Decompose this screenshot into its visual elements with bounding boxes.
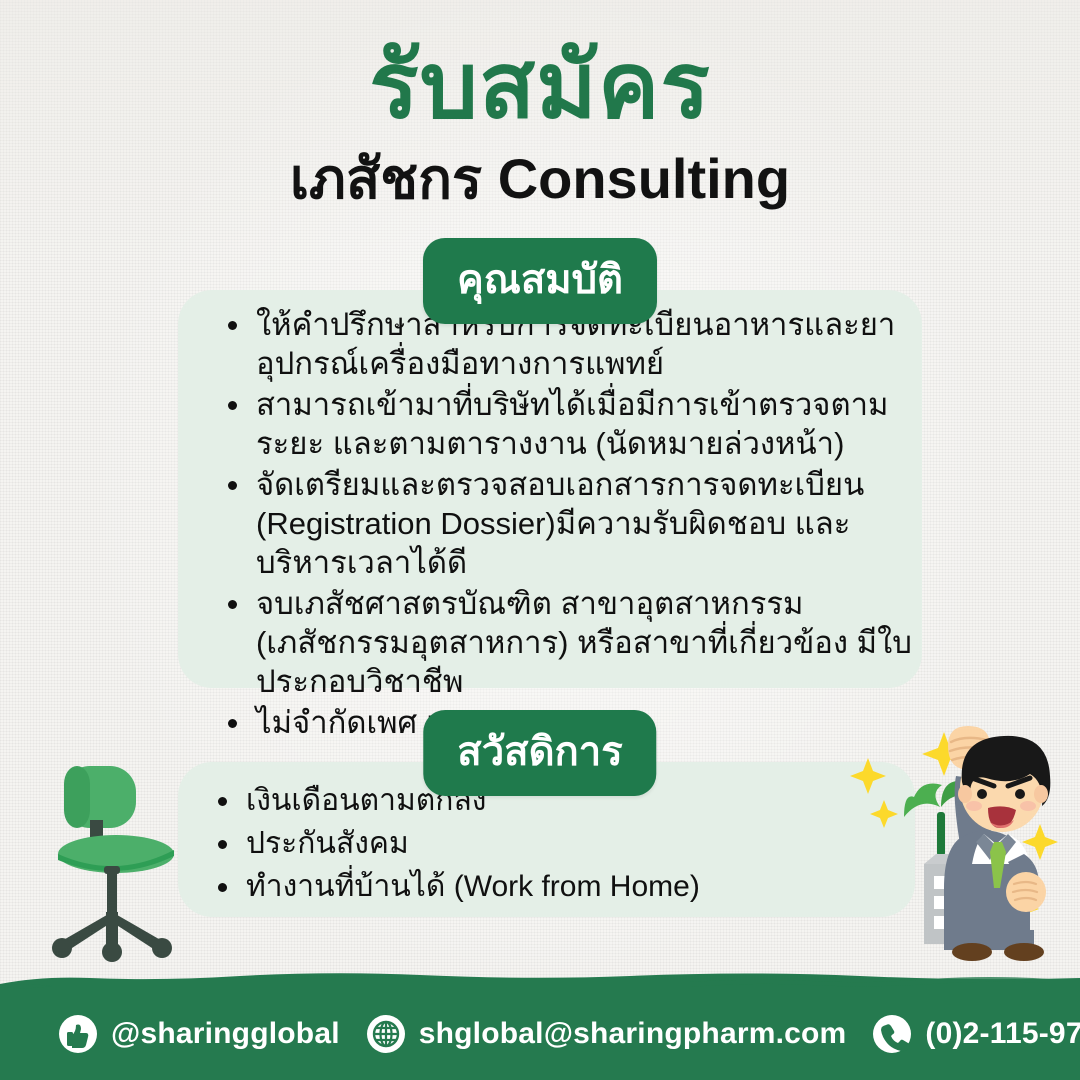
list-item: จบเภสัชศาสตรบัณฑิต สาขาอุตสาหกรรม (เภสัช… [228, 584, 918, 701]
qualifications-badge: คุณสมบัติ [423, 238, 657, 324]
office-chair-illustration [38, 762, 188, 962]
character-head [958, 736, 1050, 832]
list-item: ประกันสังคม [218, 825, 908, 863]
chair-gas-cylinder [107, 872, 117, 914]
contact-facebook[interactable]: @sharingglobal [58, 1014, 340, 1054]
benefits-list: เงินเดือนตามตกลง ประกันสังคม ทำงานที่บ้า… [218, 782, 908, 911]
contact-email[interactable]: shglobal@sharingpharm.com [366, 1014, 847, 1054]
businessman-illustration-group [838, 726, 1080, 972]
phone-icon [872, 1014, 912, 1054]
benefits-badge: สวัสดิการ [423, 710, 656, 796]
contact-facebook-label: @sharingglobal [111, 1017, 340, 1051]
contact-email-label: shglobal@sharingpharm.com [419, 1017, 847, 1051]
list-item: จัดเตรียมและตรวจสอบเอกสารการจดทะเบียน (R… [228, 465, 918, 582]
contact-phone-label: (0)2-115-9779 [925, 1017, 1080, 1051]
small-fist [1006, 872, 1046, 912]
list-item: สามารถเข้ามาที่บริษัทได้เมื่อมีการเข้าตร… [228, 385, 918, 463]
page-title: รับสมัคร [0, 38, 1080, 135]
thumbs-up-icon [58, 1014, 98, 1054]
chair-backrest [64, 766, 136, 828]
globe-icon [366, 1014, 406, 1054]
footer-contacts: @sharingglobal shglobal@sharingpharm.com… [0, 988, 1080, 1080]
poster-canvas: รับสมัคร เภสัชกร Consulting คุณสมบัติ ให… [0, 0, 1080, 1080]
contact-phone[interactable]: (0)2-115-9779 [872, 1014, 1080, 1054]
qualifications-list: ให้คำปรึกษาสำหรับการจดทะเบียนอาหารและยา … [228, 305, 918, 744]
page-subtitle: เภสัชกร Consulting [0, 148, 1080, 210]
footer-contact-bar: @sharingglobal shglobal@sharingpharm.com… [0, 972, 1080, 1080]
chair-base [52, 912, 172, 962]
list-item: ทำงานที่บ้านได้ (Work from Home) [218, 868, 908, 906]
